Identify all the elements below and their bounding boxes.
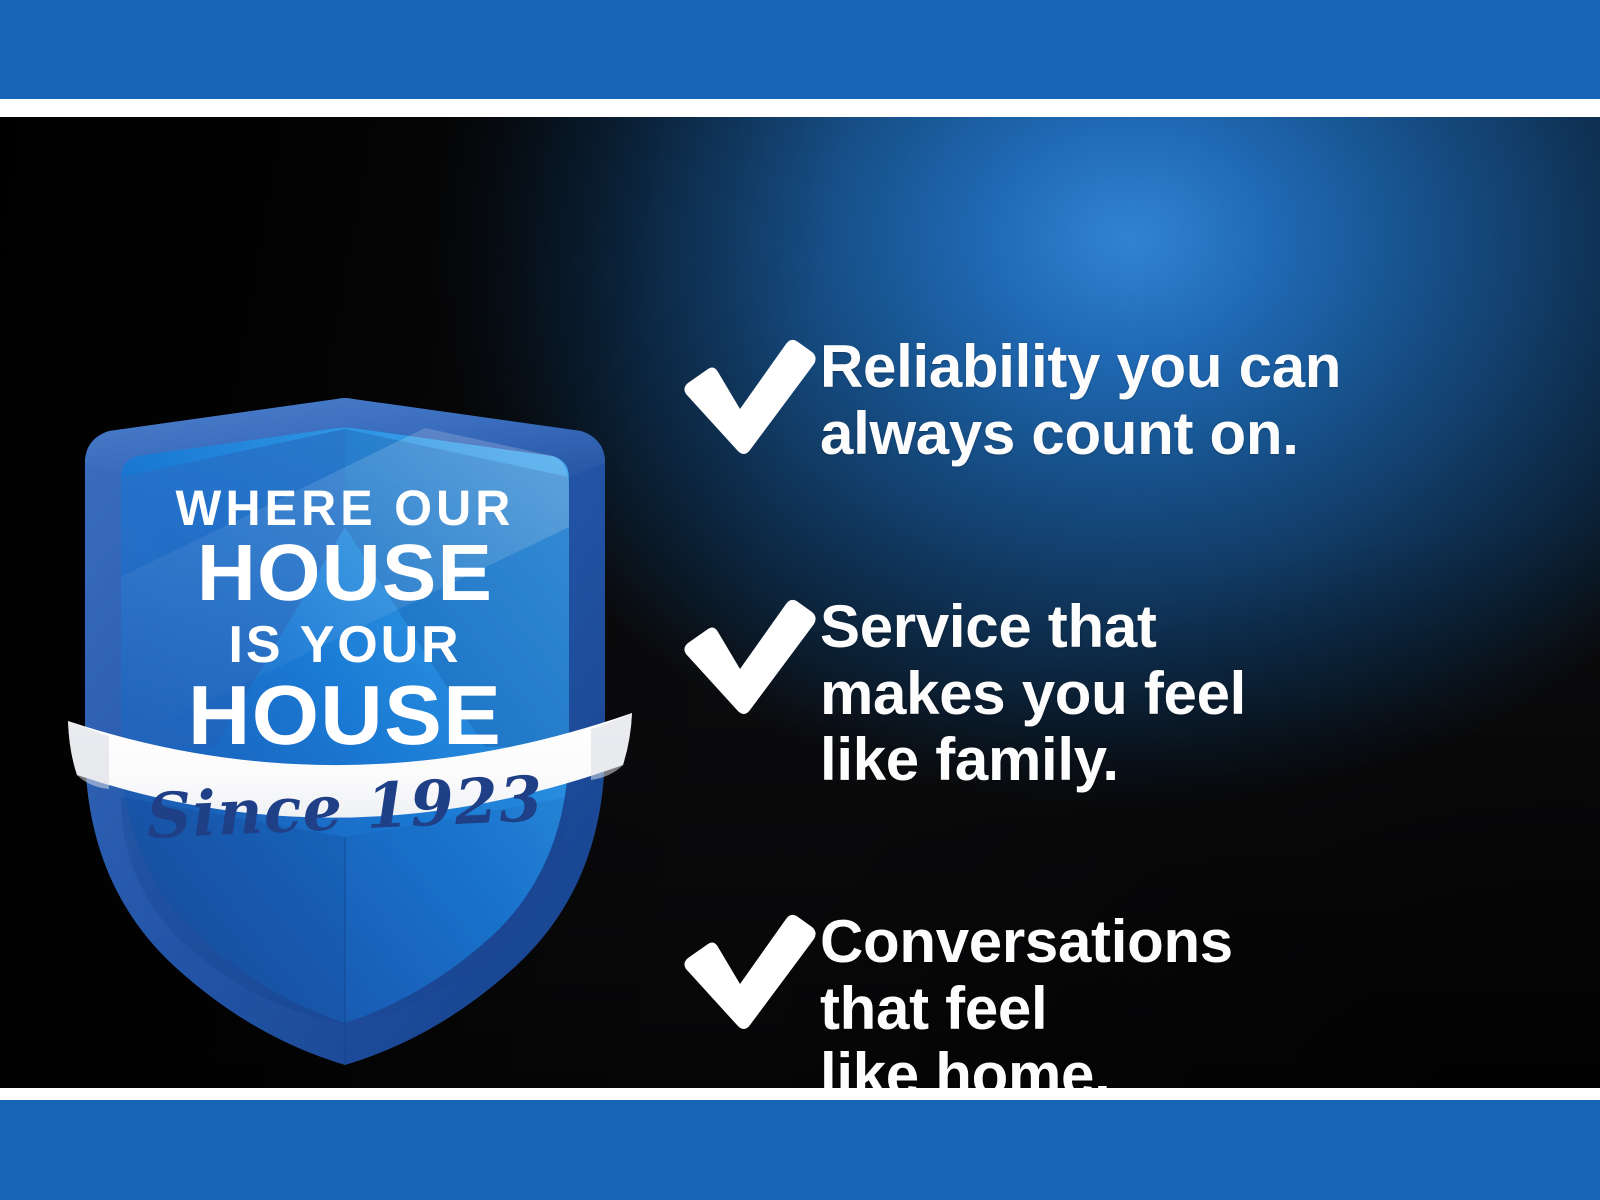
bottom-white-divider	[0, 1088, 1600, 1100]
benefit-text: Conversations that feel like home.	[820, 907, 1233, 1088]
benefit-item: Service that makes you feel like family.	[668, 592, 1246, 794]
logo-line-house-1: HOUSE	[49, 533, 641, 613]
bottom-brand-bar	[0, 1100, 1600, 1200]
brand-shield-logo: WHERE OUR HOUSE IS YOUR HOUSE Since 1923	[55, 277, 635, 1067]
logo-line-house-2: HOUSE	[46, 673, 643, 757]
main-panel: WHERE OUR HOUSE IS YOUR HOUSE Since 1923…	[0, 117, 1600, 1088]
benefit-text: Reliability you can always count on.	[820, 332, 1341, 467]
checkmark-icon	[668, 596, 820, 716]
benefit-item: Conversations that feel like home.	[668, 907, 1233, 1088]
benefit-item: Reliability you can always count on.	[668, 332, 1341, 467]
logo-line-where: WHERE OUR	[64, 483, 627, 533]
top-white-divider	[0, 99, 1600, 117]
checkmark-icon	[668, 336, 820, 456]
checkmark-icon	[668, 911, 820, 1031]
benefit-text: Service that makes you feel like family.	[820, 592, 1246, 794]
top-brand-bar	[0, 0, 1600, 99]
promo-graphic: WHERE OUR HOUSE IS YOUR HOUSE Since 1923…	[0, 0, 1600, 1200]
logo-line-is-your: IS YOUR	[55, 619, 635, 671]
